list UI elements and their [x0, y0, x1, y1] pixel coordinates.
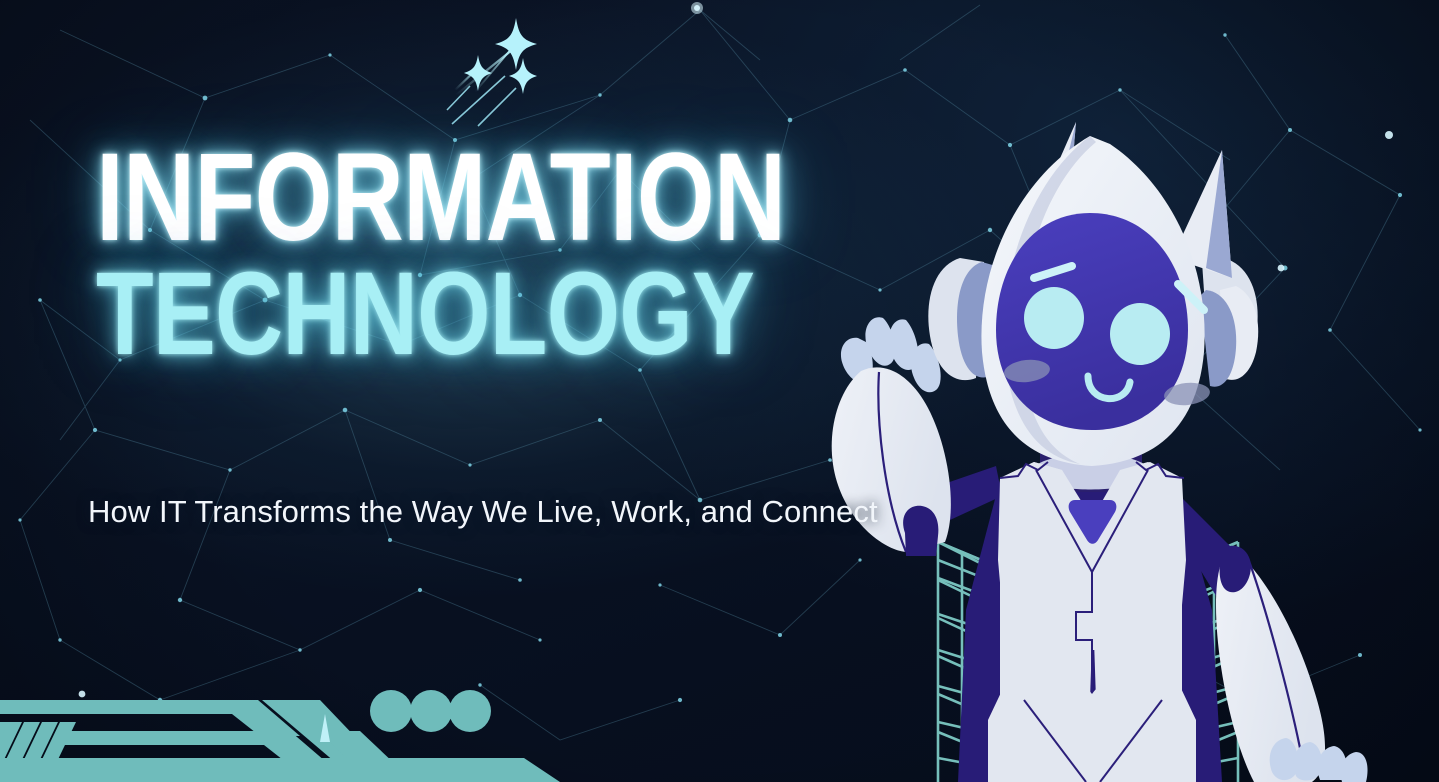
- title-line-information: INFORMATION: [96, 140, 704, 256]
- headline-block: INFORMATION TECHNOLOGY: [96, 140, 856, 370]
- background-gradient: [0, 0, 1439, 782]
- poster-canvas: INFORMATION TECHNOLOGY How IT Transforms…: [0, 0, 1439, 782]
- subtitle: How IT Transforms the Way We Live, Work,…: [88, 494, 878, 530]
- title-line-technology: TECHNOLOGY: [96, 260, 704, 370]
